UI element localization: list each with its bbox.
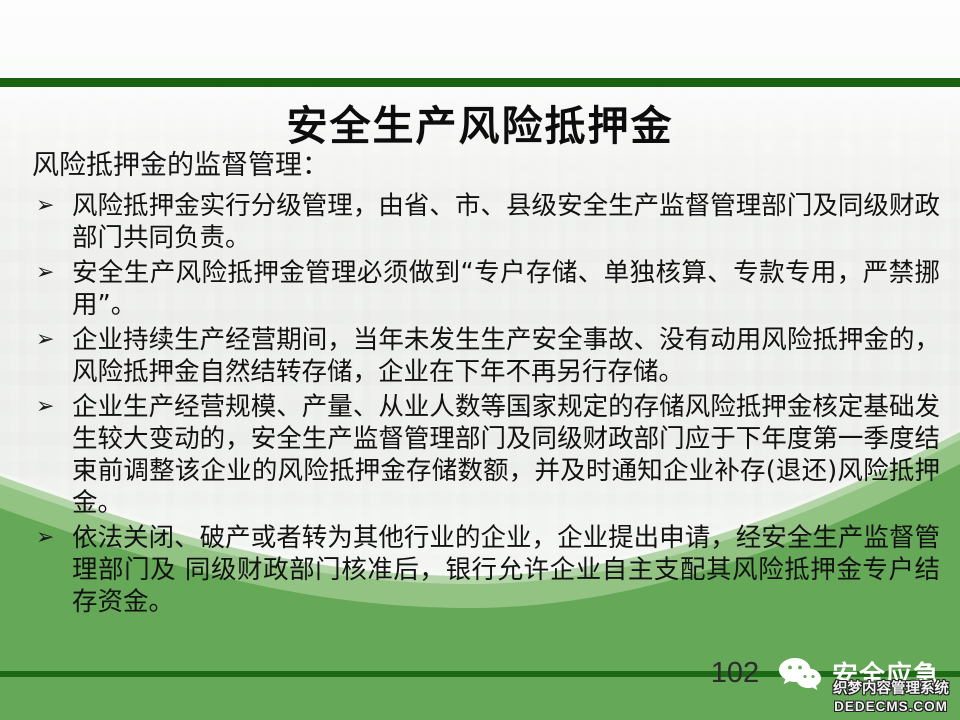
presentation-slide: 安全生产风险抵押金 风险抵押金的监督管理： ➢ 风险抵押金实行分级管理，由省、市… <box>0 0 960 720</box>
list-item: ➢ 风险抵押金实行分级管理，由省、市、县级安全生产监督管理部门及同级财政部门共同… <box>30 190 940 254</box>
arrow-right-icon: ➢ <box>36 259 54 288</box>
arrow-right-icon: ➢ <box>36 192 54 221</box>
list-item-text: 依法关闭、破产或者转为其他行业的企业，企业提出申请，经安全生产监督管理部门及 同… <box>72 522 940 618</box>
list-item: ➢ 企业生产经营规模、产量、从业人数等国家规定的存储风险抵押金核定基础发生较大变… <box>30 391 940 519</box>
list-item: ➢ 安全生产风险抵押金管理必须做到“专户存储、单独核算、专款专用，严禁挪用”。 <box>30 257 940 321</box>
top-green-divider <box>0 78 960 87</box>
arrow-right-icon: ➢ <box>36 524 54 553</box>
list-item-text: 企业持续生产经营期间，当年未发生生产安全事故、没有动用风险抵押金的，风险抵押金自… <box>72 324 940 388</box>
list-item: ➢ 依法关闭、破产或者转为其他行业的企业，企业提出申请，经安全生产监督管理部门及… <box>30 522 940 618</box>
slide-body: 风险抵押金的监督管理： ➢ 风险抵押金实行分级管理，由省、市、县级安全生产监督管… <box>30 150 940 621</box>
watermark-cn-text: 织梦内容管理系统 <box>826 682 956 698</box>
watermark: 织梦内容管理系统 DEDECMS.COM <box>826 682 956 714</box>
list-item-text: 企业生产经营规模、产量、从业人数等国家规定的存储风险抵押金核定基础发生较大变动的… <box>72 391 940 519</box>
page-title: 安全生产风险抵押金 <box>0 92 960 152</box>
wechat-icon <box>778 656 822 692</box>
list-item-text: 安全生产风险抵押金管理必须做到“专户存储、单独核算、专款专用，严禁挪用”。 <box>72 257 940 321</box>
list-item: ➢ 企业持续生产经营期间，当年未发生生产安全事故、没有动用风险抵押金的，风险抵押… <box>30 324 940 388</box>
bullet-list: ➢ 风险抵押金实行分级管理，由省、市、县级安全生产监督管理部门及同级财政部门共同… <box>30 190 940 618</box>
watermark-en-text: DEDECMS.COM <box>826 700 956 715</box>
list-item-text: 风险抵押金实行分级管理，由省、市、县级安全生产监督管理部门及同级财政部门共同负责… <box>72 190 940 254</box>
arrow-right-icon: ➢ <box>36 326 54 355</box>
section-subheading: 风险抵押金的监督管理： <box>32 150 940 182</box>
arrow-right-icon: ➢ <box>36 393 54 422</box>
page-number: 102 <box>690 657 780 690</box>
